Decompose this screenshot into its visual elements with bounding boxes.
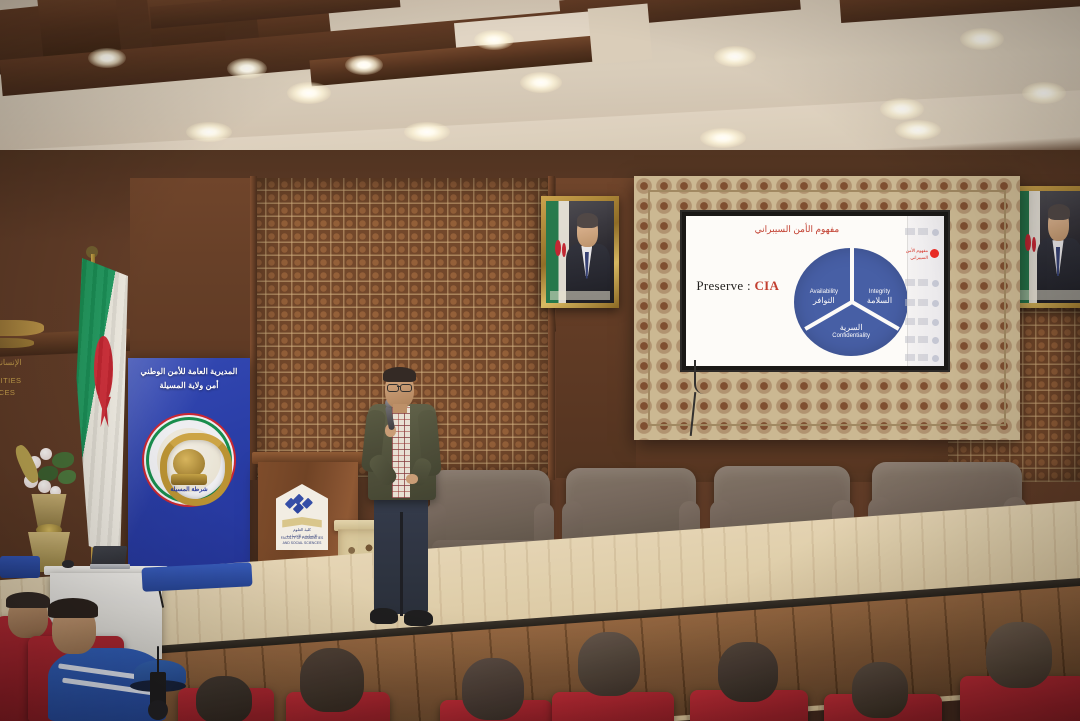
display-screen[interactable]: مفهوم الأمن السيبراني Preserve : CIA Ava… — [682, 212, 948, 370]
audience-head — [300, 648, 364, 712]
eyeglasses — [400, 384, 412, 392]
official-portrait-right — [1011, 186, 1080, 308]
ceiling-spotlight — [287, 82, 331, 104]
cia-segment-availability: Availability التوافر — [799, 289, 849, 307]
nav-item-active-label: مفهوم الأمن السيبراني — [902, 248, 928, 261]
hand — [406, 474, 418, 484]
audience-head — [462, 658, 524, 720]
nav-item[interactable] — [908, 299, 940, 307]
laptop-keyboard[interactable] — [90, 564, 130, 569]
speaker — [352, 362, 448, 636]
nav-item-active[interactable]: مفهوم الأمن السيبراني — [908, 249, 940, 269]
nav-item[interactable] — [908, 279, 940, 287]
availability-ar: التوافر — [799, 296, 849, 306]
ceiling-spotlight — [186, 122, 232, 142]
shoe — [404, 610, 433, 626]
slide-navigation-pane[interactable]: مفهوم الأمن السيبراني — [907, 216, 944, 366]
university-logo-line-1: كلية العلوم — [280, 527, 324, 533]
ceiling-spotlight — [700, 128, 746, 148]
audience-head — [718, 642, 778, 702]
auditorium-photo: الإنسانية ...ANITIES ...ENCES مفهو — [0, 0, 1080, 721]
police-banner: المديرية العامة للأمن الوطني أمن ولاية ا… — [128, 358, 250, 576]
mouse[interactable] — [62, 560, 74, 568]
confidentiality-en: Confidentiality — [832, 333, 870, 339]
ceiling-spotlight — [714, 46, 756, 67]
hair — [6, 592, 50, 608]
equipment-case — [0, 556, 40, 578]
audience-head — [852, 662, 908, 718]
ceiling-panel — [588, 3, 653, 64]
nav-item[interactable] — [908, 318, 940, 326]
audience-head — [196, 676, 252, 721]
nav-item[interactable] — [908, 228, 940, 236]
wall-sign-latin-1: ...ANITIES — [0, 376, 21, 385]
ceiling-spotlight — [474, 30, 514, 50]
audience-head — [578, 632, 640, 696]
wall-sign-latin-2: ...ENCES — [0, 388, 15, 397]
ceiling-beam — [839, 0, 1080, 23]
ceiling-spotlight — [227, 58, 267, 79]
nav-item[interactable] — [908, 336, 940, 344]
ceiling-spotlight — [960, 28, 1004, 50]
ceiling-spotlight — [1022, 82, 1066, 104]
ceiling-spotlight — [88, 48, 126, 68]
banner-line-1: المديرية العامة للأمن الوطني — [128, 366, 250, 376]
integrity-ar: السلامة — [853, 296, 905, 306]
cia-triad-diagram: Availability التوافر Integrity السلامة ا… — [794, 248, 908, 356]
audience-head — [986, 622, 1052, 688]
wall-sign: الإنسانية ...ANITIES ...ENCES — [0, 318, 56, 414]
cia-acronym: CIA — [754, 278, 779, 293]
shirt-front — [392, 406, 410, 498]
flower-arrangement — [18, 440, 82, 570]
university-logo: كلية العلوم الإنسانية و الاجتماعية FACUL… — [276, 484, 328, 550]
integrity-en: Integrity — [869, 289, 890, 295]
radio-speaker — [148, 700, 168, 720]
confidentiality-ar: السرية — [822, 323, 881, 333]
cia-segment-confidentiality: السرية Confidentiality — [822, 323, 881, 341]
availability-en: Availability — [810, 289, 838, 295]
display-cable — [694, 360, 722, 394]
ceiling-spotlight — [880, 98, 924, 120]
audience-chair — [552, 692, 674, 721]
wall-sign-arabic: الإنسانية — [0, 358, 22, 367]
preserve-text: Preserve : — [696, 278, 754, 293]
hair — [383, 367, 416, 382]
emblem-caption: شرطة المسيلة — [149, 486, 229, 493]
ceiling-spotlight — [345, 55, 383, 75]
police-emblem: شرطة المسيلة — [149, 420, 229, 500]
cia-segment-integrity: Integrity السلامة — [853, 289, 905, 307]
preserve-label: Preserve : CIA — [696, 278, 779, 294]
ceiling-spotlight — [404, 122, 450, 142]
official-portrait-left — [541, 196, 619, 308]
screen-decorative-frame: مفهوم الأمن السيبراني Preserve : CIA Ava… — [634, 176, 1020, 440]
shoe — [370, 608, 398, 624]
radio-antenna — [157, 646, 159, 674]
slide-title: مفهوم الأمن السيبراني — [686, 224, 908, 235]
banner-line-2: أمن ولاية المسيلة — [128, 380, 250, 390]
ceiling-spotlight — [895, 120, 941, 140]
ceiling-spotlight — [520, 72, 562, 93]
hair — [48, 598, 98, 618]
university-logo-line-3: FACULTY OF HUMANITIES AND SOCIAL SCIENCE… — [279, 536, 325, 546]
nav-item[interactable] — [908, 354, 940, 362]
slide-surface: مفهوم الأمن السيبراني Preserve : CIA Ava… — [686, 216, 944, 366]
